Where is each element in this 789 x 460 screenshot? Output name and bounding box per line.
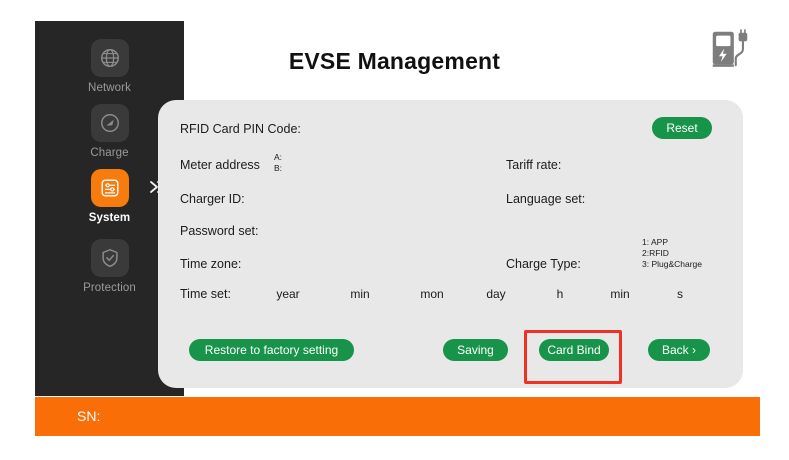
charge-type-legend-2: 2:RFID — [642, 248, 669, 259]
reset-button[interactable]: Reset — [652, 117, 712, 139]
shield-check-icon — [99, 247, 121, 269]
label-language-set: Language set: — [506, 192, 585, 207]
serial-number-label: SN: — [77, 408, 100, 424]
charge-type-legend-1: 1: APP — [642, 237, 668, 248]
back-button[interactable]: Back › — [648, 339, 710, 361]
label-meter-address-a: A: — [274, 152, 282, 163]
system-tile[interactable] — [91, 169, 129, 207]
label-time-set: Time set: — [180, 287, 231, 302]
label-time-zone: Time zone: — [180, 257, 241, 272]
time-column-year: year — [266, 287, 310, 301]
time-column-hour: h — [538, 287, 582, 301]
evse-management-screen: Network Charge — [0, 0, 789, 460]
label-charger-id: Charger ID: — [180, 192, 245, 207]
label-tariff-rate: Tariff rate: — [506, 158, 561, 173]
page-title: EVSE Management — [0, 48, 789, 75]
charge-tile[interactable] — [91, 104, 129, 142]
time-column-min-1: min — [338, 287, 382, 301]
settings-panel: RFID Card PIN Code: Meter address A: B: … — [158, 100, 743, 388]
time-column-day: day — [474, 287, 518, 301]
status-bar: SN: — [35, 397, 760, 436]
time-column-sec: s — [658, 287, 702, 301]
sidebar-label-network: Network — [35, 81, 184, 95]
ev-charging-station-icon — [707, 26, 753, 72]
label-meter-address: Meter address — [180, 158, 260, 173]
label-rfid-card-pin-code: RFID Card PIN Code: — [180, 122, 301, 137]
card-bind-highlight-box — [524, 330, 622, 384]
restore-to-factory-setting-button[interactable]: Restore to factory setting — [189, 339, 354, 361]
label-password-set: Password set: — [180, 224, 259, 239]
sliders-icon — [99, 177, 121, 199]
protection-tile[interactable] — [91, 239, 129, 277]
time-column-mon: mon — [410, 287, 454, 301]
charge-type-legend-3: 3: Plug&Charge — [642, 259, 702, 270]
gauge-icon — [99, 112, 121, 134]
label-charge-type: Charge Type: — [506, 257, 581, 272]
label-meter-address-b: B: — [274, 163, 282, 174]
time-column-min-2: min — [598, 287, 642, 301]
saving-button[interactable]: Saving — [443, 339, 508, 361]
